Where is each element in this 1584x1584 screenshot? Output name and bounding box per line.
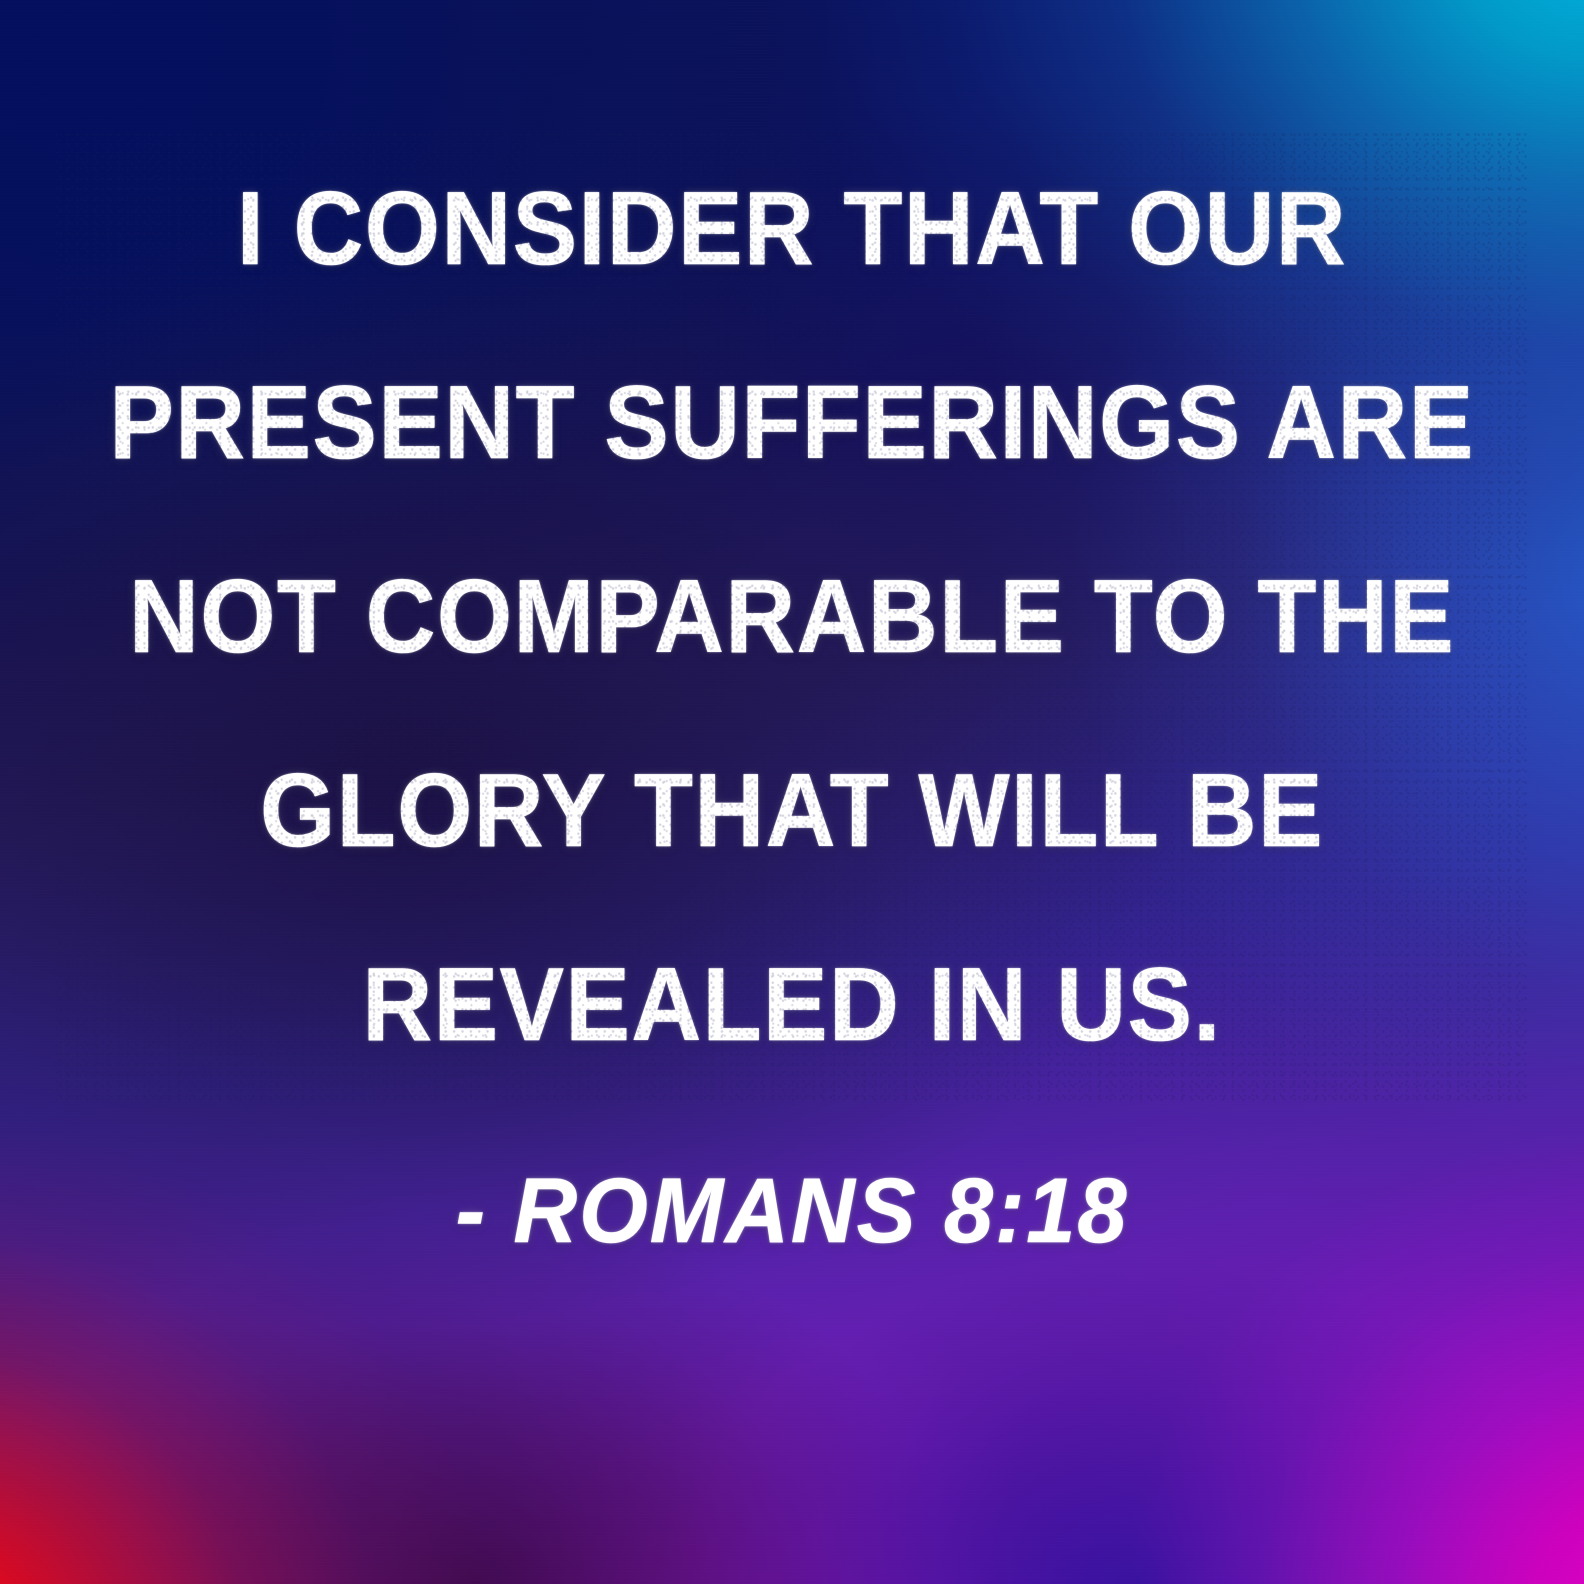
verse-line-5: REVEALED IN US. <box>55 908 1528 1102</box>
verse-attribution: - ROMANS 8:18 <box>32 1136 1553 1286</box>
verse-line-1: I CONSIDER THAT OUR <box>55 132 1528 326</box>
verse-line-3: NOT COMPARABLE TO THE <box>55 520 1528 714</box>
verse-line-2: PRESENT SUFFERINGS ARE <box>55 326 1528 520</box>
verse-text-block: I CONSIDER THAT OUR PRESENT SUFFERINGS A… <box>0 0 1584 1584</box>
verse-line-4: GLORY THAT WILL BE <box>55 714 1528 908</box>
verse-card: I CONSIDER THAT OUR PRESENT SUFFERINGS A… <box>0 0 1584 1584</box>
